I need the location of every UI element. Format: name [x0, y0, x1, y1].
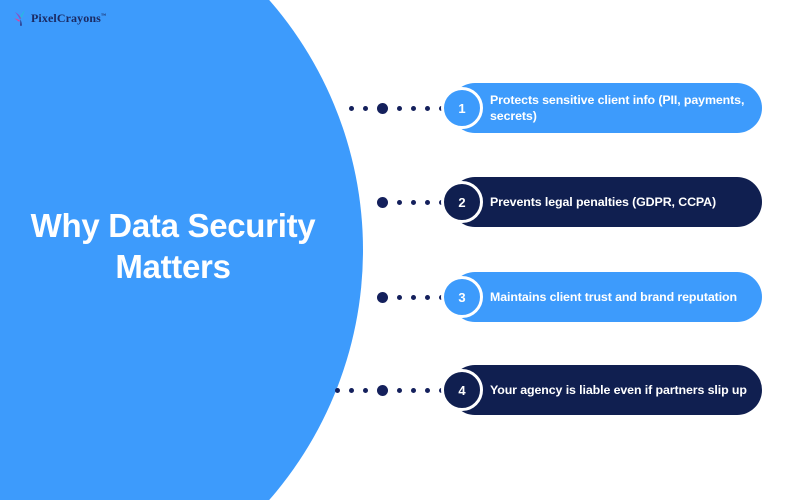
benefit-card-text: Your agency is liable even if partners s…	[490, 382, 747, 398]
benefit-card-text: Prevents legal penalties (GDPR, CCPA)	[490, 194, 716, 210]
connector-dot	[397, 295, 402, 300]
benefit-card-4[interactable]: 4 Your agency is liable even if partners…	[450, 365, 762, 415]
infographic-canvas: PixelCrayons™ Why Data Security Matters …	[0, 0, 800, 500]
connector-dot	[425, 200, 430, 205]
connector-dot-highlight	[377, 292, 388, 303]
step-number-badge: 2	[441, 181, 483, 223]
connector-dot	[363, 106, 368, 111]
list-item: 3 Maintains client trust and brand reput…	[338, 271, 762, 323]
trademark-symbol: ™	[101, 14, 106, 19]
connector-dot	[411, 106, 416, 111]
connector-dot-highlight	[377, 197, 388, 208]
connector-dot	[411, 200, 416, 205]
connector-dot	[397, 200, 402, 205]
brand-logo[interactable]: PixelCrayons™	[12, 9, 106, 27]
list-item: 1 Protects sensitive client info (PII, p…	[338, 82, 762, 134]
page-title: Why Data Security Matters	[8, 205, 338, 288]
connector-dots	[338, 82, 450, 134]
connector-dots	[338, 364, 450, 416]
page-title-line-2: Matters	[8, 246, 338, 287]
connector-dot-highlight	[377, 385, 388, 396]
brand-logo-text: PixelCrayons™	[31, 11, 106, 26]
connector-dot-highlight	[377, 103, 388, 114]
step-number-badge: 1	[441, 87, 483, 129]
connector-dot	[397, 388, 402, 393]
list-item: 2 Prevents legal penalties (GDPR, CCPA)	[338, 176, 762, 228]
benefit-card-2[interactable]: 2 Prevents legal penalties (GDPR, CCPA)	[450, 177, 762, 227]
benefit-card-3[interactable]: 3 Maintains client trust and brand reput…	[450, 272, 762, 322]
connector-dot	[411, 388, 416, 393]
benefit-card-text: Protects sensitive client info (PII, pay…	[490, 92, 748, 125]
step-number-badge: 4	[441, 369, 483, 411]
connector-dot	[425, 295, 430, 300]
connector-dots	[338, 271, 450, 323]
connector-dot	[425, 388, 430, 393]
list-item: 4 Your agency is liable even if partners…	[338, 364, 762, 416]
connector-dot	[397, 106, 402, 111]
connector-dot	[335, 388, 340, 393]
benefit-card-1[interactable]: 1 Protects sensitive client info (PII, p…	[450, 83, 762, 133]
connector-dot	[425, 106, 430, 111]
page-title-line-1: Why Data Security	[8, 205, 338, 246]
connector-dot	[349, 388, 354, 393]
benefit-card-text: Maintains client trust and brand reputat…	[490, 289, 737, 305]
connector-dots	[338, 176, 450, 228]
step-number-badge: 3	[441, 276, 483, 318]
connector-dot	[349, 106, 354, 111]
connector-dot	[411, 295, 416, 300]
crayon-mark-icon	[12, 9, 28, 27]
connector-dot	[363, 388, 368, 393]
